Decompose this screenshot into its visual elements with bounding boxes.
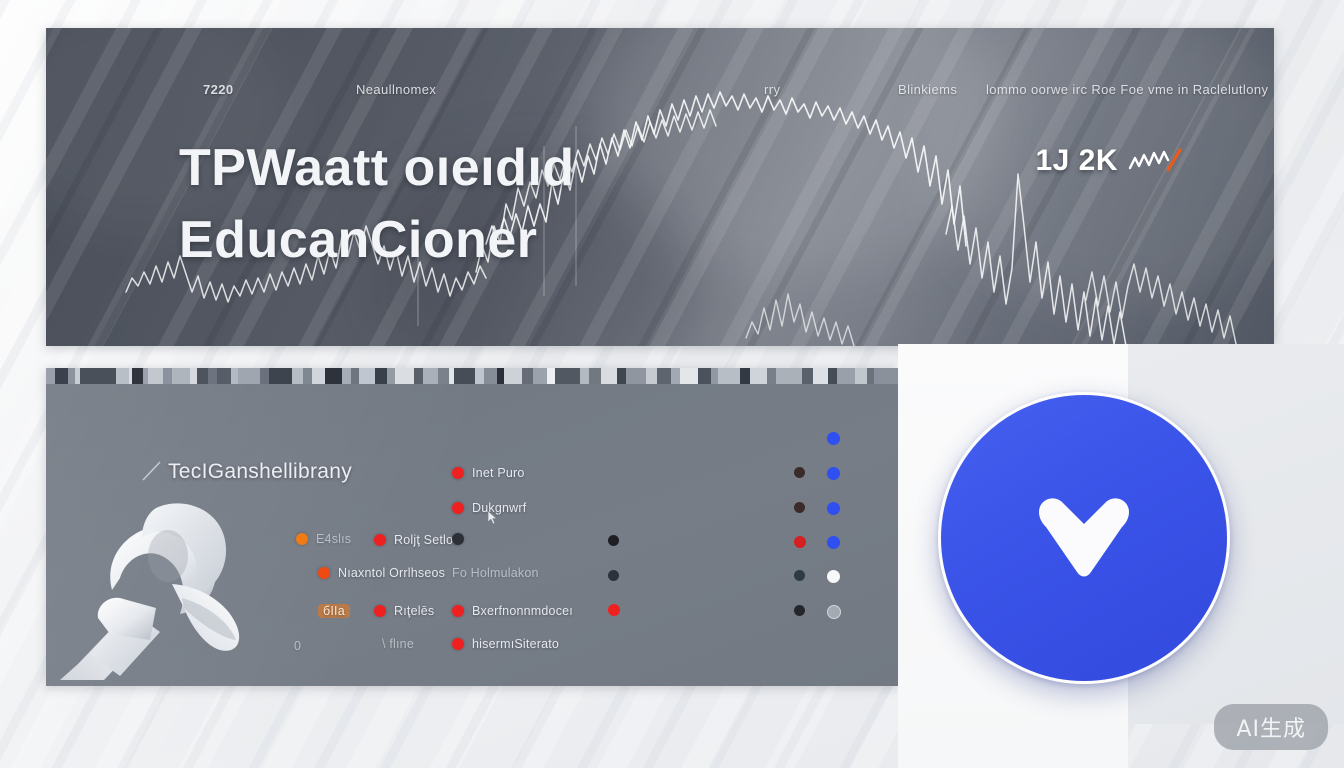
list-item-label: \ flıne <box>382 637 414 651</box>
ribbon-segment <box>312 368 325 384</box>
hero-nav-item-4[interactable]: lommo oorwe irc Roe Foe vme in Raclelutl… <box>986 82 1268 97</box>
bullet-dot-icon <box>374 605 386 617</box>
status-dot-white-1[interactable] <box>827 570 840 583</box>
ribbon-segment <box>351 368 358 384</box>
ribbon-segment <box>698 368 711 384</box>
ribbon-segment <box>657 368 671 384</box>
ribbon-segment <box>68 368 75 384</box>
ribbon-segment <box>680 368 698 384</box>
ribbon-segment <box>580 368 589 384</box>
ribbon-segment <box>802 368 813 384</box>
ribbon-segment <box>522 368 533 384</box>
hero-nav-logo[interactable]: 7220 <box>203 82 234 97</box>
bullet-dot-icon <box>374 534 386 546</box>
hero-nav-item-1[interactable]: Neaullnomex <box>356 82 436 97</box>
hero-headline-line-2: EducanCioner <box>179 205 819 277</box>
ribbon-segment <box>116 368 129 384</box>
ribbon-segment <box>504 368 522 384</box>
panel-title: TecIGanshellibrany <box>168 460 352 484</box>
ribbon-segment <box>601 368 617 384</box>
ribbon-segment <box>325 368 343 384</box>
ribbon-segment <box>589 368 602 384</box>
blue-chevron-badge[interactable] <box>938 392 1230 684</box>
list-item-label: Nıаxntol Orrlhseos <box>338 566 445 580</box>
hero-banner: 7220 Neaullnomex rrу Blinkiems lommo oor… <box>46 28 1274 346</box>
status-dot-slate-1[interactable] <box>794 570 805 581</box>
list-item-label: Roljţ Setloil <box>394 533 459 547</box>
ai-generated-watermark: AI生成 <box>1214 704 1328 750</box>
ribbon-segment <box>55 368 68 384</box>
ribbon-segment <box>740 368 751 384</box>
status-dot-hollow[interactable] <box>827 605 841 619</box>
ribbon-segment <box>148 368 162 384</box>
status-dot-dark-1[interactable] <box>794 467 805 478</box>
ribbon-segment <box>475 368 484 384</box>
list-item-dark-marker[interactable] <box>452 533 472 545</box>
list-item-label: Inet Puro <box>472 466 525 480</box>
list-item-label: hisermıSiterato <box>472 637 559 651</box>
ribbon-segment <box>260 368 269 384</box>
ribbon-segment <box>163 368 172 384</box>
ribbon-segment <box>387 368 394 384</box>
status-dot-blue-3[interactable] <box>827 502 840 515</box>
ribbon-segment <box>626 368 646 384</box>
ribbon-segment <box>855 368 868 384</box>
ribbon-segment <box>172 368 190 384</box>
mouse-cursor-icon <box>487 510 498 525</box>
ribbon-segment <box>828 368 837 384</box>
ribbon-segment <box>776 368 803 384</box>
ribbon-segment <box>303 368 312 384</box>
list-item-label: Fo Holmulakon <box>452 566 539 580</box>
ribbon-segment <box>484 368 497 384</box>
ribbon-segment <box>414 368 423 384</box>
list-item-zero[interactable]: 0 <box>294 639 301 653</box>
ribbon-segment <box>217 368 231 384</box>
sparkline-icon <box>1128 146 1184 176</box>
status-dot-red-1[interactable] <box>794 536 806 548</box>
ribbon-segment <box>197 368 208 384</box>
hero-headline-line-1: TPWaatt oıeıdıd <box>179 139 575 197</box>
robotic-gripper-render <box>60 468 290 680</box>
panel-ribbon <box>46 368 898 384</box>
ribbon-segment <box>395 368 415 384</box>
list-item-filelies[interactable]: Rıţelēs <box>374 604 434 618</box>
ribbon-segment <box>711 368 718 384</box>
ribbon-segment <box>533 368 547 384</box>
list-item-vfine[interactable]: \ flıne <box>382 637 414 651</box>
ribbon-segment <box>132 368 143 384</box>
ribbon-segment <box>438 368 449 384</box>
ribbon-segment <box>718 368 740 384</box>
status-dot-blue-2[interactable] <box>827 467 840 480</box>
status-dot-dark-2[interactable] <box>794 502 805 513</box>
title-slash-icon <box>140 458 166 484</box>
ribbon-segment <box>867 368 874 384</box>
hero-headline: TPWaatt oıeıdıd EducanCioner <box>179 133 819 277</box>
bullet-dot-icon <box>296 533 308 545</box>
ribbon-segment <box>46 368 55 384</box>
status-dot-mid-2[interactable] <box>608 570 619 581</box>
list-item-inet-puro[interactable]: Inet Puro <box>452 466 525 480</box>
hero-nav: 7220 Neaullnomex rrу Blinkiems lommo oor… <box>46 82 1274 108</box>
bullet-dot-icon <box>452 605 464 617</box>
list-item-moxntol[interactable]: Nıаxntol Orrlhseos <box>318 566 445 580</box>
ribbon-segment <box>342 368 351 384</box>
ribbon-segment <box>423 368 437 384</box>
ribbon-segment <box>813 368 827 384</box>
hero-metric-value: 1J 2K <box>1035 144 1118 178</box>
list-item-basis[interactable]: E4slıs <box>296 532 351 546</box>
status-dot-mid-red[interactable] <box>608 604 620 616</box>
ribbon-segment <box>671 368 680 384</box>
bullet-dot-icon <box>452 502 464 514</box>
ribbon-segment <box>269 368 292 384</box>
status-dot-dark-3[interactable] <box>794 605 805 616</box>
ribbon-segment <box>767 368 776 384</box>
ribbon-segment <box>208 368 217 384</box>
hero-nav-item-2[interactable]: rrу <box>764 82 780 97</box>
ribbon-segment <box>238 368 260 384</box>
bullet-dot-icon <box>452 467 464 479</box>
chevron-down-icon <box>1029 490 1139 586</box>
list-item-label: бІІa <box>318 604 350 618</box>
list-item-label: Dukgnwrf <box>472 501 526 515</box>
list-item-relit-settoit[interactable]: Roljţ Setloil <box>374 533 459 547</box>
list-item-label: Bxerfnonnmdoceı <box>472 604 573 618</box>
status-dot-mid-1[interactable] <box>608 535 619 546</box>
ribbon-segment <box>292 368 303 384</box>
list-item-label: Rıţelēs <box>394 604 434 618</box>
bullet-dot-icon <box>452 533 464 545</box>
ribbon-segment <box>454 368 476 384</box>
ribbon-segment <box>497 368 504 384</box>
ribbon-segment <box>231 368 238 384</box>
hero-nav-item-3[interactable]: Blinkiems <box>898 82 957 97</box>
ribbon-segment <box>359 368 375 384</box>
status-dot-blue-4[interactable] <box>827 536 840 549</box>
bullet-dot-icon <box>452 638 464 650</box>
bullet-dot-icon <box>318 567 330 579</box>
ribbon-segment <box>80 368 116 384</box>
ribbon-segment <box>375 368 388 384</box>
list-item-label: E4slıs <box>316 532 351 546</box>
list-item-label: 0 <box>294 639 301 653</box>
hero-metric: 1J 2K <box>1035 144 1184 178</box>
ribbon-segment <box>874 368 897 384</box>
list-item-fo-holmulakon[interactable]: Fo Holmulakon <box>452 566 539 580</box>
ribbon-segment <box>646 368 657 384</box>
ribbon-segment <box>617 368 626 384</box>
ribbon-segment <box>750 368 766 384</box>
list-item-bxerfnonnmdoce[interactable]: Bxerfnonnmdoceı <box>452 604 573 618</box>
ribbon-segment <box>190 368 197 384</box>
ribbon-segment <box>837 368 855 384</box>
ribbon-segment <box>547 368 554 384</box>
list-item-bita-chip[interactable]: бІІa <box>318 604 350 618</box>
list-item-hiserm-siterato[interactable]: hisermıSiterato <box>452 637 559 651</box>
status-dot-blue-1[interactable] <box>827 432 840 445</box>
ribbon-segment <box>555 368 580 384</box>
